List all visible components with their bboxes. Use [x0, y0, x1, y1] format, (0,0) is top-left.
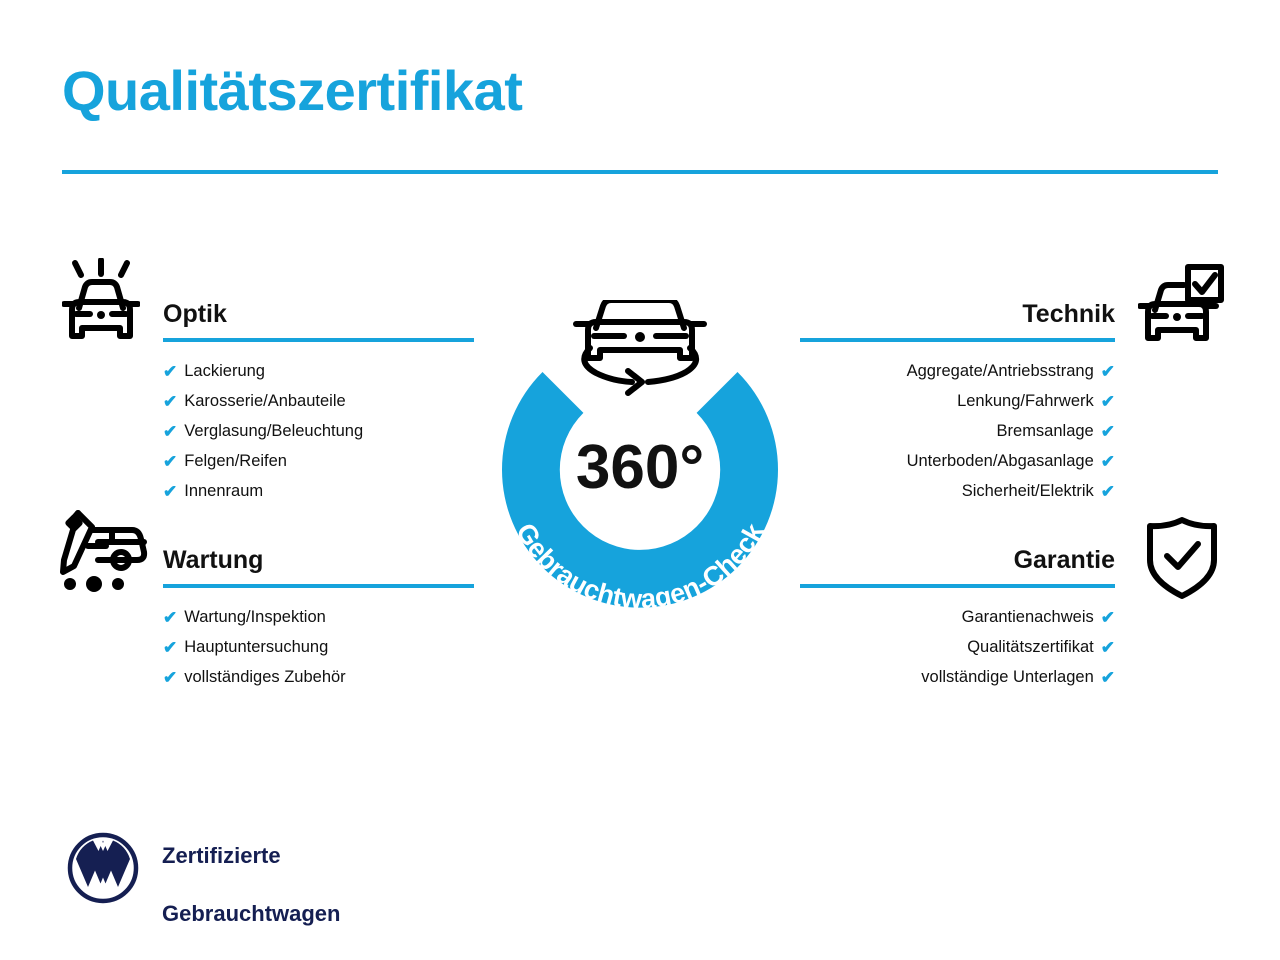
checklist-item-label: Sicherheit/Elektrik [962, 476, 1094, 506]
checklist-item: Unterboden/Abgasanlage✔ [800, 446, 1115, 476]
checklist-item: vollständige Unterlagen✔ [800, 662, 1115, 692]
check-icon: ✔ [1101, 453, 1115, 470]
section-garantie-header: Garantie [800, 544, 1115, 588]
checklist-item: ✔Innenraum [163, 476, 474, 506]
section-garantie: Garantie Garantienachweis✔Qualitätszerti… [800, 544, 1115, 692]
section-optik-divider [163, 338, 474, 342]
car-rotate-icon [576, 300, 704, 393]
section-technik-divider [800, 338, 1115, 342]
check-icon: ✔ [1101, 423, 1115, 440]
section-optik: Optik ✔Lackierung✔Karosserie/Anbauteile✔… [163, 298, 474, 506]
check-icon: ✔ [163, 483, 177, 500]
vw-footer: Zertifizierte Gebrauchtwagen [66, 812, 340, 928]
checklist-item-label: Aggregate/Antriebsstrang [907, 356, 1094, 386]
check-icon: ✔ [1101, 483, 1115, 500]
section-garantie-title: Garantie [800, 544, 1115, 576]
section-technik-list: Aggregate/Antriebsstrang✔Lenkung/Fahrwer… [800, 356, 1115, 506]
check-icon: ✔ [163, 453, 177, 470]
title-divider [62, 170, 1218, 174]
section-wartung-divider [163, 584, 474, 588]
checklist-item-label: vollständige Unterlagen [921, 662, 1093, 692]
car-shine-icon [62, 258, 140, 355]
section-garantie-list: Garantienachweis✔Qualitätszertifikat✔vol… [800, 602, 1115, 692]
badge-center-label: 360° [576, 433, 704, 502]
section-wartung-list: ✔Wartung/Inspektion✔Hauptuntersuchung✔vo… [163, 602, 474, 692]
checklist-item-label: Unterboden/Abgasanlage [907, 446, 1094, 476]
checklist-item-label: Verglasung/Beleuchtung [184, 416, 363, 446]
checklist-item: ✔Verglasung/Beleuchtung [163, 416, 474, 446]
checklist-item: Lenkung/Fahrwerk✔ [800, 386, 1115, 416]
check-icon: ✔ [1101, 669, 1115, 686]
section-optik-header: Optik [163, 298, 474, 342]
section-technik: Technik Aggregate/Antriebsstrang✔Lenkung… [800, 298, 1115, 506]
checklist-item: Qualitätszertifikat✔ [800, 632, 1115, 662]
checklist-item-label: Karosserie/Anbauteile [184, 386, 345, 416]
checklist-item-label: Bremsanlage [997, 416, 1094, 446]
check-icon: ✔ [1101, 393, 1115, 410]
vw-footer-line2: Gebrauchtwagen [162, 901, 340, 926]
section-wartung-header: Wartung [163, 544, 474, 588]
section-wartung-title: Wartung [163, 544, 474, 576]
checklist-item: ✔Lackierung [163, 356, 474, 386]
check-icon: ✔ [163, 423, 177, 440]
checklist-item: Aggregate/Antriebsstrang✔ [800, 356, 1115, 386]
checklist-item-label: Lenkung/Fahrwerk [957, 386, 1094, 416]
vw-footer-line1: Zertifizierte [162, 843, 281, 868]
checklist-item: Bremsanlage✔ [800, 416, 1115, 446]
checklist-item: Garantienachweis✔ [800, 602, 1115, 632]
section-optik-title: Optik [163, 298, 474, 330]
checklist-item: ✔Felgen/Reifen [163, 446, 474, 476]
checklist-item-label: Wartung/Inspektion [184, 602, 326, 632]
checklist-item-label: Lackierung [184, 356, 265, 386]
section-technik-header: Technik [800, 298, 1115, 342]
checklist-item: ✔Wartung/Inspektion [163, 602, 474, 632]
checklist-item-label: Innenraum [184, 476, 263, 506]
checklist-item-label: Qualitätszertifikat [967, 632, 1094, 662]
check-icon: ✔ [163, 609, 177, 626]
check-icon: ✔ [1101, 609, 1115, 626]
checklist-item-label: Felgen/Reifen [184, 446, 287, 476]
checklist-item: Sicherheit/Elektrik✔ [800, 476, 1115, 506]
checklist-item-label: vollständiges Zubehör [184, 662, 345, 692]
vw-logo [66, 831, 140, 910]
gebrauchtwagen-check-badge: Gebrauchtwagen-Check 360° [460, 300, 820, 620]
check-icon: ✔ [1101, 363, 1115, 380]
page-title: Qualitätszertifikat [62, 60, 522, 122]
checklist-item-label: Garantienachweis [962, 602, 1094, 632]
pen-car-service-icon [58, 508, 148, 599]
checklist-item: ✔Hauptuntersuchung [163, 632, 474, 662]
section-technik-title: Technik [800, 298, 1115, 330]
checklist-item-label: Hauptuntersuchung [184, 632, 328, 662]
section-wartung: Wartung ✔Wartung/Inspektion✔Hauptuntersu… [163, 544, 474, 692]
check-icon: ✔ [163, 669, 177, 686]
checklist-item: ✔vollständiges Zubehör [163, 662, 474, 692]
check-icon: ✔ [163, 639, 177, 656]
car-checkbox-icon [1138, 264, 1224, 353]
shield-check-icon [1144, 516, 1220, 605]
section-optik-list: ✔Lackierung✔Karosserie/Anbauteile✔Vergla… [163, 356, 474, 506]
checklist-item: ✔Karosserie/Anbauteile [163, 386, 474, 416]
section-garantie-divider [800, 584, 1115, 588]
vw-footer-text: Zertifizierte Gebrauchtwagen [162, 812, 340, 928]
check-icon: ✔ [1101, 639, 1115, 656]
check-icon: ✔ [163, 393, 177, 410]
check-icon: ✔ [163, 363, 177, 380]
